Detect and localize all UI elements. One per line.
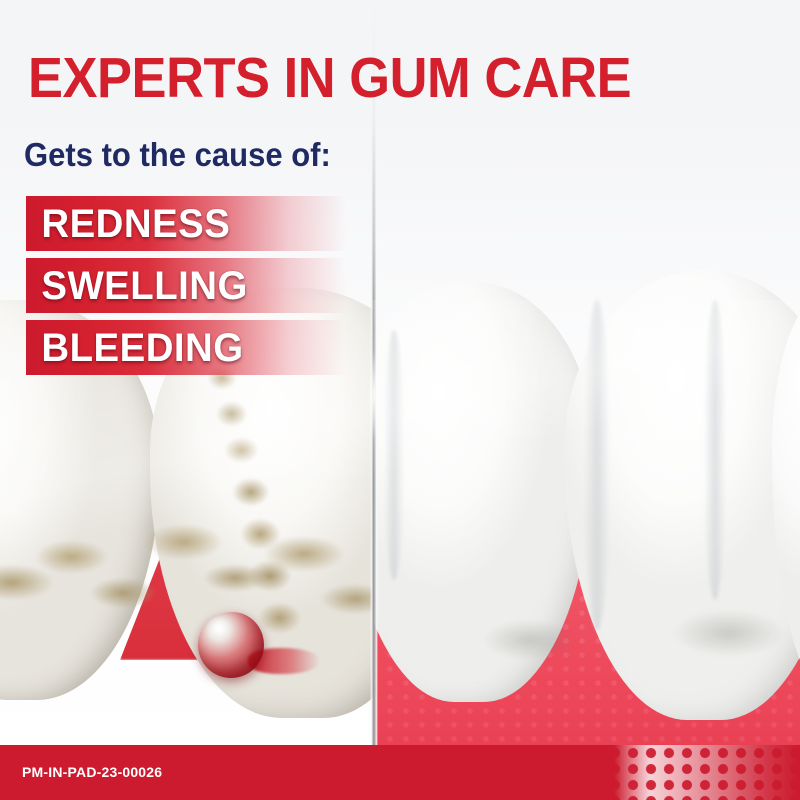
page-title: EXPERTS IN GUM CARE bbox=[28, 47, 631, 109]
enamel-ridge-2 bbox=[704, 300, 726, 600]
symptom-row: SWELLING bbox=[26, 258, 446, 313]
subtitle: Gets to the cause of: bbox=[24, 136, 331, 174]
honeycomb-solid-fade bbox=[560, 745, 650, 800]
symptom-row: REDNESS bbox=[26, 196, 446, 251]
footer-bar: PM-IN-PAD-23-00026 bbox=[0, 745, 800, 800]
enamel-stain-2 bbox=[674, 610, 784, 656]
symptom-list: REDNESS SWELLING BLEEDING bbox=[26, 196, 446, 382]
symptom-label-redness: REDNESS bbox=[26, 202, 230, 246]
blood-droplet bbox=[198, 612, 264, 678]
symptom-label-swelling: SWELLING bbox=[26, 264, 248, 308]
approval-code: PM-IN-PAD-23-00026 bbox=[22, 763, 162, 781]
symptom-label-bleeding: BLEEDING bbox=[26, 326, 244, 370]
blood-droplet-highlight bbox=[208, 620, 230, 636]
enamel-stain-1 bbox=[484, 620, 574, 660]
symptom-row: BLEEDING bbox=[26, 320, 446, 375]
enamel-ridge-1 bbox=[584, 300, 610, 630]
advertisement-canvas: EXPERTS IN GUM CARE Gets to the cause of… bbox=[0, 0, 800, 800]
